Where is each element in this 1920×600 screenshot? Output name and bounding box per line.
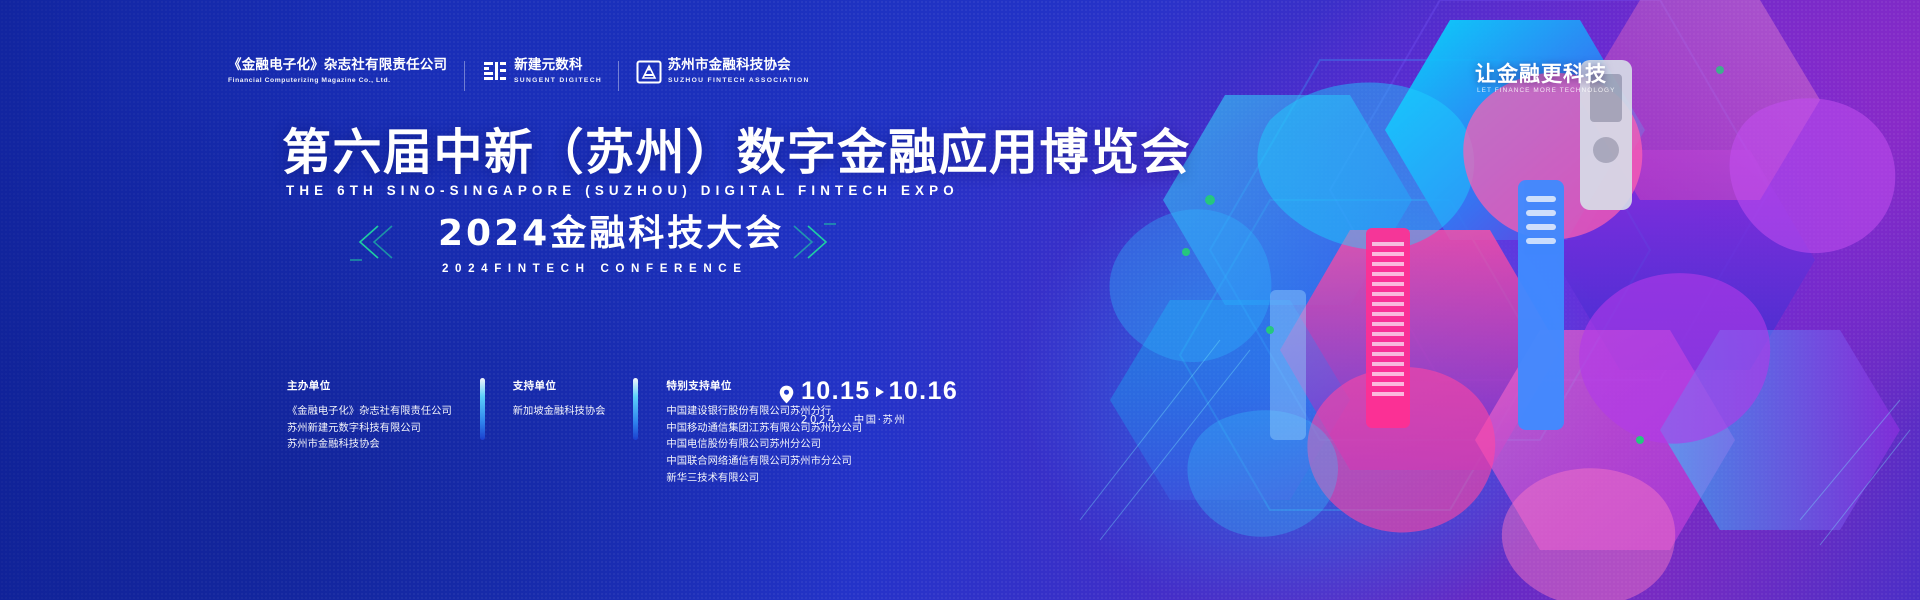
organizer-line: 新华三技术有限公司 bbox=[666, 470, 862, 487]
fintech-expo-banner: 让金融更科技 LET FINANCE MORE TECHNOLOGY 《金融电子… bbox=[0, 0, 1920, 600]
main-title-en: THE 6TH SINO-SINGAPORE (SUZHOU) DIGITAL … bbox=[286, 183, 959, 198]
location-pin-icon bbox=[779, 385, 794, 409]
logo-suzhou-fintech-association: 苏州市金融科技协会 SUZHOU FINTECH ASSOCIATION bbox=[619, 58, 824, 85]
organizer-line: 新加坡金融科技协会 bbox=[513, 403, 606, 420]
organizer-divider bbox=[480, 378, 485, 440]
date-start: 10.15 bbox=[801, 379, 871, 404]
hero-artwork bbox=[1020, 0, 1920, 600]
event-year-location: 2024 中国·苏州 bbox=[801, 411, 958, 426]
chevron-right-decoration bbox=[782, 222, 838, 267]
event-location: 中国·苏州 bbox=[854, 414, 906, 426]
subtitle-cn: 2024金融科技大会 bbox=[438, 216, 784, 252]
organizer-heading: 支持单位 bbox=[513, 378, 606, 393]
logo-en-text: SUNGENT DIGITECH bbox=[514, 76, 602, 86]
organizer-line: 苏州新建元数字科技有限公司 bbox=[287, 420, 452, 437]
logo-cn-text: 《金融电子化》杂志社有限责任公司 bbox=[228, 58, 447, 74]
chevron-left-decoration bbox=[348, 222, 404, 267]
suzhou-fintech-mark-icon bbox=[636, 59, 662, 85]
logo-sungent-digitech: 新建元数科 SUNGENT DIGITECH bbox=[465, 58, 617, 85]
banner-content: 《金融电子化》杂志社有限责任公司 Financial Computerizing… bbox=[0, 0, 1020, 600]
date-end: 10.16 bbox=[889, 379, 959, 404]
logo-row: 《金融电子化》杂志社有限责任公司 Financial Computerizing… bbox=[228, 58, 824, 91]
organizer-column-support: 支持单位 新加坡金融科技协会 bbox=[513, 378, 606, 420]
organizer-line: 《金融电子化》杂志社有限责任公司 bbox=[287, 403, 452, 420]
tagline-badge: 让金融更科技 LET FINANCE MORE TECHNOLOGY bbox=[1475, 52, 1655, 104]
organizer-column-host: 主办单位 《金融电子化》杂志社有限责任公司 苏州新建元数字科技有限公司 苏州市金… bbox=[287, 378, 452, 453]
organizer-line: 中国电信股份有限公司苏州分公司 bbox=[666, 436, 862, 453]
subtitle-en: 2024FINTECH CONFERENCE bbox=[442, 262, 748, 275]
subtitle-block: 2024金融科技大会 2024FINTECH CONFERENCE bbox=[282, 216, 922, 286]
sungent-mark-icon bbox=[482, 59, 508, 85]
logo-cn-text: 新建元数科 bbox=[514, 58, 600, 74]
organizer-section: 主办单位 《金融电子化》杂志社有限责任公司 苏州新建元数字科技有限公司 苏州市金… bbox=[287, 378, 862, 486]
logo-financial-computerizing: 《金融电子化》杂志社有限责任公司 Financial Computerizing… bbox=[228, 58, 464, 85]
arrow-right-icon bbox=[876, 387, 884, 397]
event-date: 10.15 10.16 bbox=[801, 379, 958, 404]
organizer-heading: 主办单位 bbox=[287, 378, 452, 393]
main-title-cn: 第六届中新（苏州）数字金融应用博览会 bbox=[282, 128, 1191, 177]
event-year: 2024 bbox=[801, 414, 837, 426]
tagline-cn: 让金融更科技 bbox=[1475, 58, 1607, 88]
organizer-line: 中国联合网络通信有限公司苏州市分公司 bbox=[666, 453, 862, 470]
logo-en-text: SUZHOU FINTECH ASSOCIATION bbox=[668, 76, 810, 86]
organizer-line: 苏州市金融科技协会 bbox=[287, 436, 452, 453]
tagline-en: LET FINANCE MORE TECHNOLOGY bbox=[1477, 86, 1615, 96]
logo-en-text: Financial Computerizing Magazine Co., Lt… bbox=[228, 76, 452, 86]
organizer-divider bbox=[633, 378, 638, 440]
logo-cn-text: 苏州市金融科技协会 bbox=[668, 58, 807, 74]
event-date-location: 10.15 10.16 2024 中国·苏州 bbox=[779, 379, 958, 426]
